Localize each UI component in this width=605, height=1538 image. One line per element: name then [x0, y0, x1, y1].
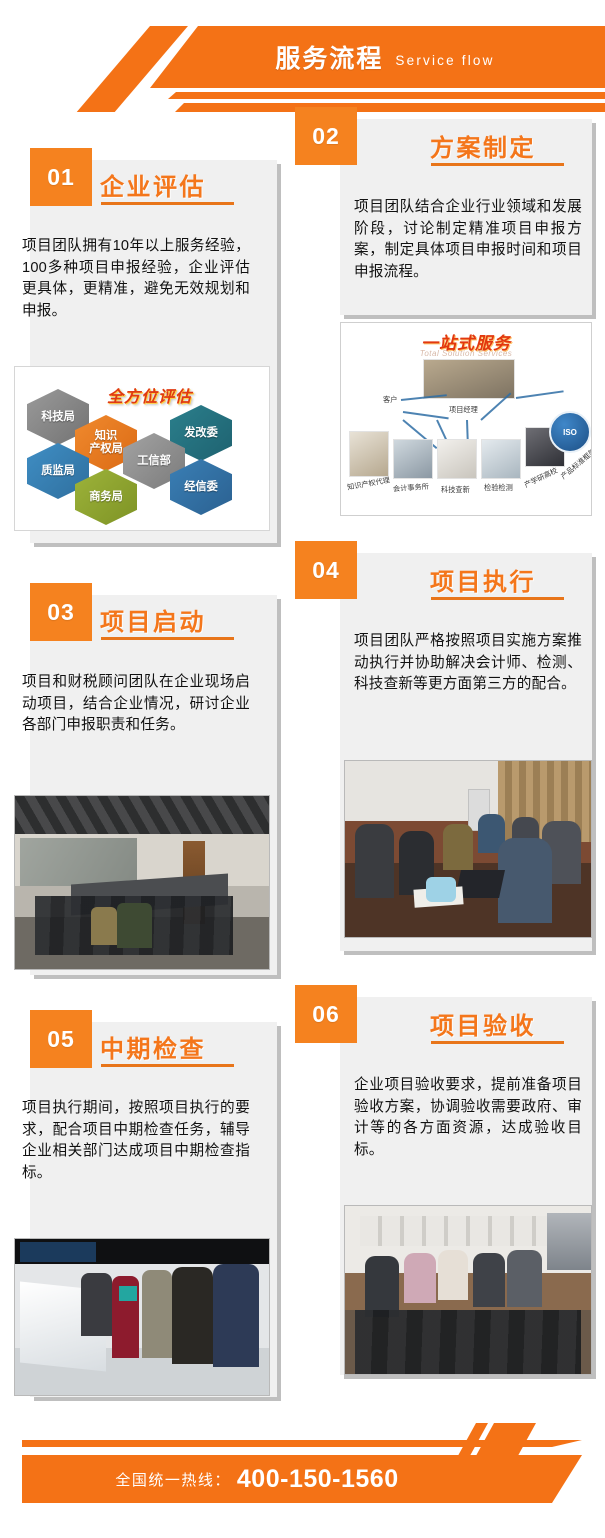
header-accent-line-2 — [175, 103, 605, 112]
one-stop-thumb-4 — [481, 439, 521, 479]
one-stop-arrow-2 — [403, 411, 449, 419]
hex-node-zscqj-label: 知识产权局 — [89, 430, 123, 456]
one-stop-service-5: 产学研高校 — [523, 466, 560, 491]
card-05-photo — [14, 1238, 270, 1396]
one-stop-thumb-3 — [437, 439, 477, 479]
footer-accent-line — [22, 1440, 582, 1447]
header-title-group: 服务流程 Service flow — [150, 26, 605, 88]
footer-hotline-number[interactable]: 400-150-1560 — [237, 1465, 399, 1494]
card-05-description: 项目执行期间，按照项目执行的要求，配合项目中期检查任务，辅导企业相关部门达成项目… — [22, 1098, 250, 1184]
one-stop-center-photo — [423, 359, 515, 399]
card-05-title-rule — [101, 1064, 234, 1067]
card-02-number-badge: 02 — [295, 107, 357, 165]
card-02-description: 项目团队结合企业行业领域和发展阶段，讨论制定精准项目申报方案，制定具体项目申报时… — [354, 197, 582, 283]
card-03-title-rule — [101, 637, 234, 640]
card-04-photo — [344, 760, 592, 938]
page-subtitle: Service flow — [395, 53, 494, 68]
one-stop-thumb-2 — [393, 439, 433, 479]
card-01-description: 项目团队拥有10年以上服务经验，100多种项目申报经验，企业评估更具体，更精准，… — [22, 236, 250, 322]
one-stop-center-label: 项目经理 — [449, 405, 478, 415]
page-header: 服务流程 Service flow — [0, 0, 605, 112]
card-06-title-rule — [431, 1041, 564, 1044]
card-01-title-rule — [101, 202, 234, 205]
card-05-title: 中期检查 — [100, 1029, 206, 1064]
card-06-description: 企业项目验收要求，提前准备项目验收方案，协调验收需要政府、审计等的各方面资源，达… — [354, 1075, 582, 1161]
card-01-number-badge: 01 — [30, 148, 92, 206]
card-04-description: 项目团队严格按照项目实施方案推动执行并协助解决会计师、检测、科技查新等更方面第三… — [354, 631, 582, 696]
one-stop-seal-icon: ISO — [549, 411, 591, 453]
card-01-title: 企业评估 — [100, 167, 206, 202]
card-02-title: 方案制定 — [430, 128, 536, 163]
card-03-description: 项目和财税顾问团队在企业现场启动项目，结合企业情况，研讨企业各部门申报职责和任务… — [22, 672, 250, 737]
footer-hotline-label: 全国统一热线： — [115, 1469, 231, 1490]
card-04-title-rule — [431, 597, 564, 600]
card-04-title: 项目执行 — [430, 562, 536, 597]
one-stop-service-4: 检验检测 — [484, 483, 513, 493]
card-05-number-badge: 05 — [30, 1010, 92, 1068]
one-stop-thumb-1 — [349, 431, 389, 477]
card-03-photo — [14, 795, 270, 970]
one-stop-service-3: 科技查新 — [441, 485, 470, 495]
card-06-number-badge: 06 — [295, 985, 357, 1043]
one-stop-service-2: 会计事务所 — [393, 482, 430, 494]
page-title: 服务流程 — [275, 39, 383, 75]
card-01-figure: 全方位评估 科技局 知识产权局 发改委 质监局 工信部 商务局 经信委 — [14, 366, 270, 531]
card-03-number-badge: 03 — [30, 583, 92, 641]
one-stop-client-label: 客户 — [383, 395, 397, 405]
one-stop-arrow-3 — [516, 390, 564, 399]
card-02-title-rule — [431, 163, 564, 166]
service-flow-infographic: 服务流程 Service flow 01 企业评估 项目团队拥有10年以上服务经… — [0, 0, 605, 1538]
card-02-figure: 一站式服务 Total Solution Services 客户 项目经理 IS… — [340, 322, 592, 516]
hexagon-chart-title: 全方位评估 — [107, 383, 192, 407]
card-03-title: 项目启动 — [100, 602, 206, 637]
one-stop-service-1: 知识产权代理 — [346, 475, 390, 492]
card-04-number-badge: 04 — [295, 541, 357, 599]
footer-hotline-group: 全国统一热线： 400-150-1560 — [22, 1455, 492, 1503]
one-stop-subtitle: Total Solution Services — [341, 349, 591, 358]
card-06-title: 项目验收 — [430, 1006, 536, 1041]
card-06-photo — [344, 1205, 592, 1375]
header-accent-line-1 — [168, 92, 605, 99]
